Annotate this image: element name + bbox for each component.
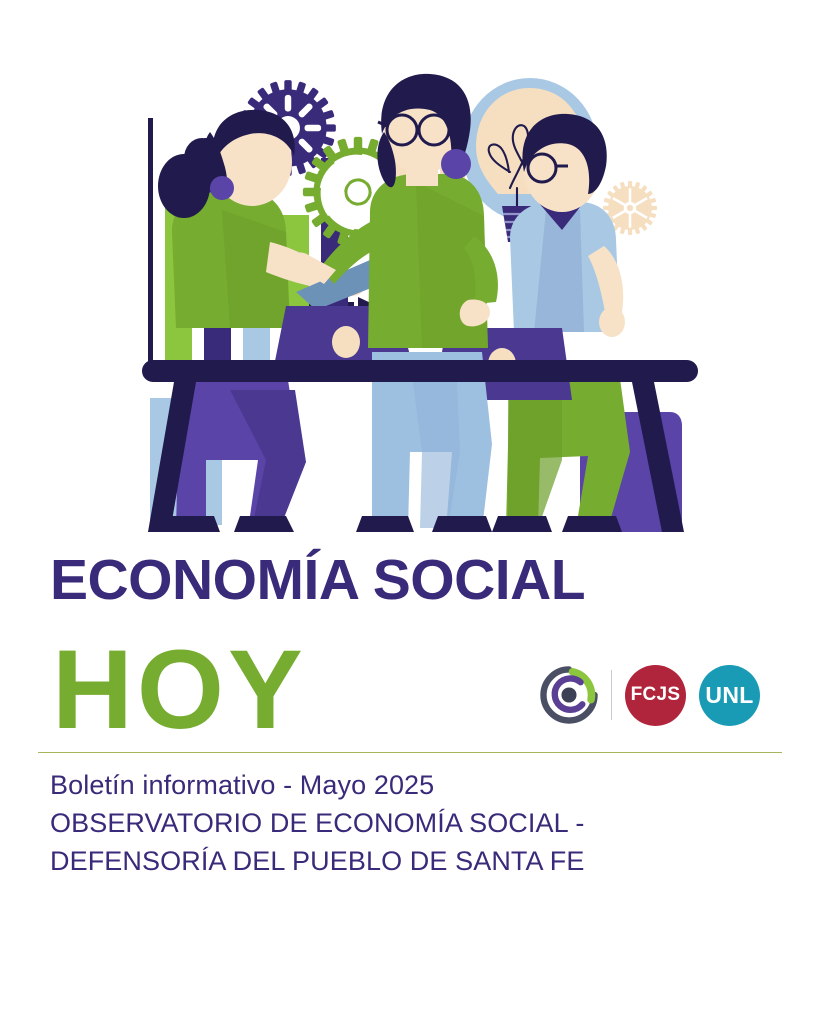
observatorio-logo-icon [540,666,598,724]
page-title: ECONOMÍA SOCIAL [50,552,585,609]
poster-root: ECONOMÍA SOCIAL HOY FCJS UNL Boletín inf… [0,0,819,1024]
logo-strip: FCJS UNL [540,655,760,735]
footer-text-block: Boletín informativo - Mayo 2025 OBSERVAT… [50,766,770,880]
organization-line-2: DEFENSORÍA DEL PUEBLO DE SANTA FE [50,842,770,880]
logo-divider [611,670,612,720]
bulletin-subtitle: Boletín informativo - Mayo 2025 [50,766,770,804]
page-title-secondary: HOY [52,634,307,746]
organization-line-1: OBSERVATORIO DE ECONOMÍA SOCIAL - [50,804,770,842]
fcjs-logo[interactable]: FCJS [625,665,686,726]
hero-illustration [110,60,730,550]
unl-logo[interactable]: UNL [699,665,760,726]
section-divider [38,752,782,753]
